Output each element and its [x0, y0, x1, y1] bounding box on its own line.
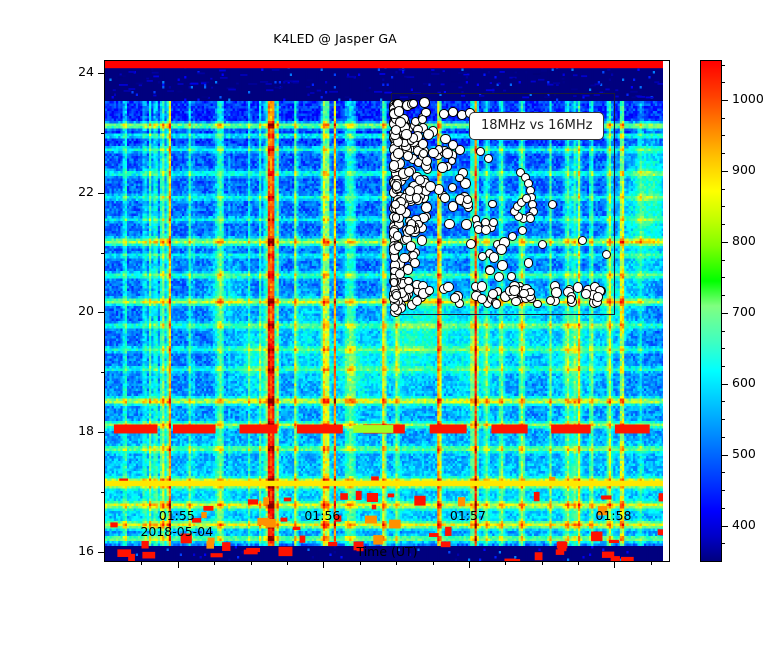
x-tick-major: [469, 561, 470, 568]
scatter-point: [425, 181, 436, 192]
x-tick-minor: [141, 561, 142, 565]
scatter-point: [533, 300, 542, 309]
scatter-point: [419, 149, 428, 158]
x-tick-label: 01:56: [304, 508, 340, 523]
scatter-point: [578, 236, 587, 245]
scatter-point: [419, 97, 430, 108]
scatter-point: [508, 232, 517, 241]
scatter-point: [496, 244, 507, 255]
scatter-point: [488, 289, 498, 299]
x-tick-minor: [251, 561, 252, 565]
x-tick-minor: [360, 561, 361, 565]
colorbar-tick-minor: [721, 189, 725, 190]
page-title: K4LED @ Jasper GA: [0, 31, 670, 46]
scatter-point: [497, 260, 508, 271]
colorbar-tick-minor: [721, 401, 725, 402]
scatter-point: [440, 134, 451, 145]
y-tick-major: [98, 312, 105, 313]
scatter-point: [567, 295, 576, 304]
colorbar-tick-major: [721, 526, 728, 527]
scatter-point: [428, 148, 439, 159]
x-tick-minor: [214, 561, 215, 565]
colorbar-tick-minor: [721, 419, 725, 420]
x-tick-minor: [505, 561, 506, 565]
scatter-point: [488, 200, 497, 209]
y-tick-label: 24: [56, 64, 94, 79]
x-tick-label: 01:55: [159, 508, 195, 523]
colorbar-tick-minor: [721, 118, 725, 119]
scatter-point: [421, 202, 432, 213]
scatter-point: [519, 289, 528, 298]
y-tick-label: 18: [56, 423, 94, 438]
scatter-point: [511, 297, 521, 307]
scatter-point: [466, 239, 476, 249]
scatter-point: [476, 147, 485, 156]
colorbar-tick-minor: [721, 82, 725, 83]
scatter-point: [507, 272, 516, 281]
colorbar-tick-label: 700: [732, 304, 756, 319]
x-tick-minor: [396, 561, 397, 565]
x-tick-major: [614, 561, 615, 568]
colorbar-tick-minor: [721, 206, 725, 207]
scatter-point: [394, 106, 405, 117]
colorbar-tick-minor: [721, 135, 725, 136]
scatter-point: [548, 200, 557, 209]
scatter-point: [440, 193, 449, 202]
figure-canvas: K4LED @ Jasper GA Frequency (MHz) 18MHz …: [0, 0, 783, 656]
colorbar-tick-label: 1000: [732, 91, 764, 106]
main-axes: 18MHz vs 16MHz: [104, 60, 670, 562]
colorbar-tick-major: [721, 384, 728, 385]
scatter-point: [602, 250, 611, 259]
colorbar-tick-minor: [721, 331, 725, 332]
colorbar: [700, 60, 722, 562]
scatter-point: [393, 148, 404, 159]
x-tick-major: [323, 561, 324, 568]
colorbar-tick-major: [721, 313, 728, 314]
x-tick-minor: [542, 561, 543, 565]
colorbar-tick-minor: [721, 366, 725, 367]
scatter-point: [593, 292, 603, 302]
scatter-point: [518, 226, 527, 235]
colorbar-tick-minor: [721, 224, 725, 225]
scatter-point: [448, 183, 457, 192]
scatter-point: [538, 240, 547, 249]
scatter-point: [509, 285, 520, 296]
colorbar-tick-major: [721, 171, 728, 172]
y-tick-minor: [101, 133, 105, 134]
scatter-point: [477, 281, 488, 292]
scatter-point: [522, 194, 531, 203]
scatter-point: [418, 139, 427, 148]
y-tick-minor: [101, 372, 105, 373]
scatter-point: [409, 99, 418, 108]
colorbar-tick-minor: [721, 348, 725, 349]
y-tick-label: 16: [56, 543, 94, 558]
scatter-point: [437, 162, 448, 173]
scatter-point: [524, 258, 533, 267]
scatter-point: [392, 291, 401, 300]
scatter-point: [461, 219, 471, 229]
scatter-point: [485, 266, 494, 275]
colorbar-tick-label: 400: [732, 517, 756, 532]
colorbar-tick-major: [721, 242, 728, 243]
scatter-point: [423, 129, 434, 140]
x-axis-date-label: 2018-05-04: [140, 524, 213, 539]
colorbar-tick-minor: [721, 153, 725, 154]
scatter-point: [392, 181, 402, 191]
colorbar-tick-minor: [721, 295, 725, 296]
scatter-point: [401, 129, 411, 139]
scatter-point: [418, 115, 427, 124]
colorbar-tick-minor: [721, 472, 725, 473]
scatter-point: [444, 219, 454, 229]
colorbar-tick-minor: [721, 490, 725, 491]
scatter-point: [410, 258, 420, 268]
scatter-point: [443, 282, 453, 292]
y-tick-label: 20: [56, 303, 94, 318]
y-tick-label: 22: [56, 184, 94, 199]
x-tick-minor: [433, 561, 434, 565]
colorbar-tick-minor: [721, 437, 725, 438]
x-tick-major: [178, 561, 179, 568]
scatter-point: [484, 154, 493, 163]
scatter-point: [417, 235, 427, 245]
y-tick-major: [98, 73, 105, 74]
y-tick-minor: [101, 492, 105, 493]
scatter-point: [455, 174, 464, 183]
x-tick-minor: [578, 561, 579, 565]
scatter-point: [463, 195, 472, 204]
x-tick-minor: [287, 561, 288, 565]
colorbar-tick-minor: [721, 65, 725, 66]
scatter-point: [391, 125, 401, 135]
scatter-point: [425, 286, 434, 295]
scatter-point: [399, 253, 410, 264]
x-tick-label: 01:57: [450, 508, 486, 523]
y-tick-minor: [101, 253, 105, 254]
colorbar-tick-label: 600: [732, 375, 756, 390]
scatter-point: [404, 167, 414, 177]
scatter-point: [478, 252, 487, 261]
colorbar-tick-minor: [721, 508, 725, 509]
y-tick-major: [98, 432, 105, 433]
colorbar-tick-minor: [721, 543, 725, 544]
x-tick-minor: [651, 561, 652, 565]
scatter-point: [442, 148, 453, 159]
scatter-point: [403, 151, 413, 161]
scatter-point: [481, 225, 491, 235]
scatter-point: [526, 214, 535, 223]
scatter-point: [494, 272, 504, 282]
x-axis-label: Time (UT): [104, 544, 670, 559]
x-tick-label: 01:58: [595, 508, 631, 523]
scatter-point: [551, 287, 562, 298]
scatter-point: [448, 201, 458, 211]
scatter-point: [581, 289, 591, 299]
scatter-point: [390, 303, 399, 312]
legend-label: 18MHz vs 16MHz: [469, 112, 604, 140]
colorbar-tick-major: [721, 455, 728, 456]
colorbar-tick-major: [721, 100, 728, 101]
colorbar-tick-label: 500: [732, 446, 756, 461]
colorbar-tick-label: 900: [732, 162, 756, 177]
scatter-point: [390, 278, 399, 287]
colorbar-tick-label: 800: [732, 233, 756, 248]
colorbar-tick-minor: [721, 277, 725, 278]
scatter-point: [492, 299, 502, 309]
scatter-point: [393, 231, 403, 241]
scatter-point: [405, 225, 414, 234]
scatter-point: [394, 242, 403, 251]
colorbar-tick-minor: [721, 260, 725, 261]
y-tick-major: [98, 193, 105, 194]
